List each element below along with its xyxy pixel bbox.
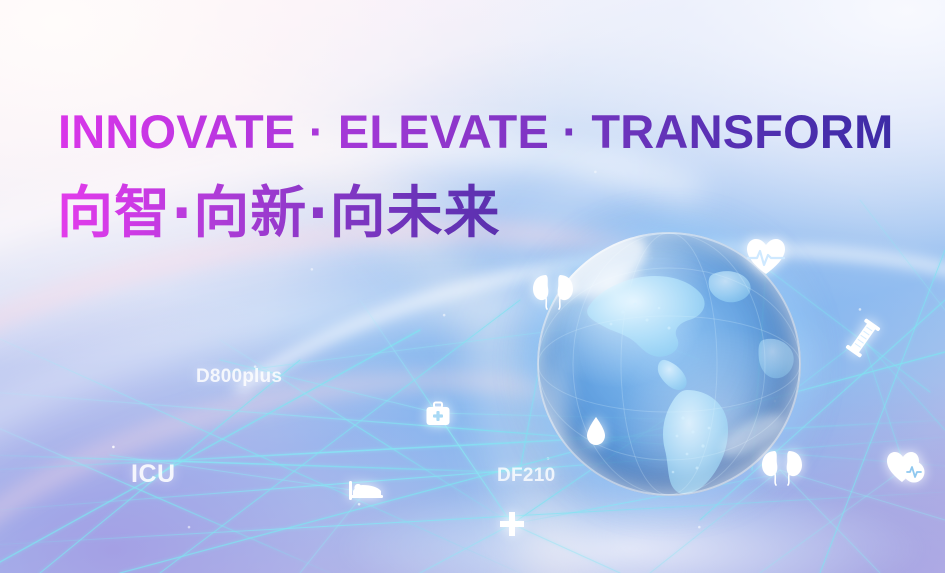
- heart-monitor-icon: [886, 450, 926, 486]
- dialyzer-cartridge-icon: [845, 318, 881, 358]
- medical-cross-icon: [499, 511, 525, 537]
- hospital-bed-icon: [348, 478, 384, 502]
- heart-pulse-icon: [745, 238, 787, 276]
- page-subtitle: 向智·向新·向未来: [57, 168, 501, 249]
- kidneys-icon: [760, 447, 804, 487]
- label-d800plus: D800plus: [196, 366, 282, 388]
- label-icu: ICU: [131, 460, 176, 489]
- medical-kit-icon: [425, 401, 451, 427]
- page-title: INNOVATE · ELEVATE · TRANSFORM: [58, 104, 893, 159]
- water-drop-icon: [585, 416, 607, 446]
- label-df210: DF210: [497, 465, 556, 487]
- kidneys-icon: [531, 271, 575, 311]
- hero-banner: INNOVATE · ELEVATE · TRANSFORM 向智·向新·向未来…: [0, 0, 945, 573]
